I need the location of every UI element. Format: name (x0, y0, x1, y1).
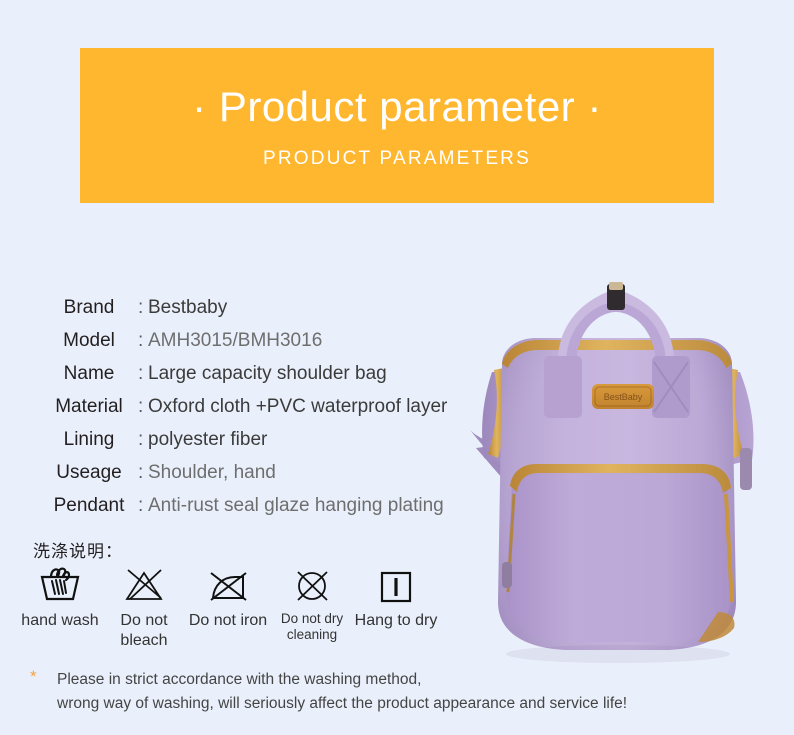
wash-caption-do-not-dry-clean: Do not dry cleaning (270, 611, 354, 644)
spec-value-name: Large capacity shoulder bag (148, 363, 387, 385)
spec-row-pendant: Pendant : Anti-rust seal glaze hanging p… (40, 495, 510, 528)
wash-item-do-not-dry-clean: Do not dry cleaning (270, 563, 354, 644)
spec-colon-name: : (138, 363, 148, 385)
footnote-line-2: wrong way of washing, will seriously aff… (57, 692, 730, 716)
spec-row-material: Material : Oxford cloth +PVC waterproof … (40, 396, 510, 429)
do-not-iron-icon (205, 563, 251, 607)
spec-label-name: Name (40, 363, 138, 385)
spec-label-material: Material (40, 396, 138, 418)
spec-colon-lining: : (138, 429, 148, 451)
spec-row-useage: Useage : Shoulder, hand (40, 462, 510, 495)
do-not-bleach-icon (121, 563, 167, 607)
spec-value-pendant: Anti-rust seal glaze hanging plating (148, 495, 444, 517)
hand-wash-icon (37, 563, 83, 607)
spec-colon-material: : (138, 396, 148, 418)
wash-caption-hand-wash: hand wash (21, 611, 98, 631)
banner-subtitle: PRODUCT PARAMETERS (80, 149, 714, 168)
zipper-pull-left-bottom (502, 562, 512, 588)
spec-colon-useage: : (138, 462, 148, 484)
spec-label-model: Model (40, 330, 138, 352)
footnote-line-1: Please in strict accordance with the was… (57, 668, 730, 692)
footnote-text: Please in strict accordance with the was… (57, 668, 730, 716)
ground-shadow (506, 645, 730, 663)
spec-label-lining: Lining (40, 429, 138, 451)
left-handle-tab (544, 356, 582, 418)
spec-value-lining: polyester fiber (148, 429, 267, 451)
spec-value-useage: Shoulder, hand (148, 462, 276, 484)
wash-item-do-not-bleach: Do not bleach (102, 563, 186, 650)
wash-caption-do-not-iron: Do not iron (189, 611, 267, 631)
spec-label-pendant: Pendant (40, 495, 138, 517)
banner-title: · Product parameter · (80, 86, 714, 128)
clasp-metal (609, 282, 623, 290)
do-not-dry-clean-icon (289, 563, 335, 607)
product-parameter-banner: · Product parameter · PRODUCT PARAMETERS (80, 48, 714, 203)
front-pocket (506, 466, 732, 642)
zipper-pull-right (740, 448, 752, 490)
spec-value-material: Oxford cloth +PVC waterproof layer (148, 396, 447, 418)
spec-row-name: Name : Large capacity shoulder bag (40, 363, 510, 396)
spec-row-brand: Brand : Bestbaby (40, 297, 510, 330)
spec-colon-model: : (138, 330, 148, 352)
footnote: * Please in strict accordance with the w… (30, 668, 730, 716)
spec-label-useage: Useage (40, 462, 138, 484)
spec-label-brand: Brand (40, 297, 138, 319)
spec-row-model: Model : AMH3015/BMH3016 (40, 330, 510, 363)
spec-value-model: AMH3015/BMH3016 (148, 330, 322, 352)
footnote-asterisk-icon: * (30, 668, 37, 685)
washing-instructions-heading: 洗涤说明： (33, 537, 123, 562)
spec-row-lining: Lining : polyester fiber (40, 429, 510, 462)
wash-item-hand-wash: hand wash (18, 563, 102, 631)
wash-item-do-not-iron: Do not iron (186, 563, 270, 631)
spec-value-brand: Bestbaby (148, 297, 227, 319)
wash-caption-hang-to-dry: Hang to dry (355, 611, 438, 631)
spec-colon-brand: : (138, 297, 148, 319)
hang-to-dry-icon (373, 563, 419, 607)
washing-symbol-row: hand wash Do not bleach Do not iron (18, 563, 438, 650)
wash-caption-do-not-bleach: Do not bleach (102, 611, 186, 650)
wash-item-hang-to-dry: Hang to dry (354, 563, 438, 631)
brand-patch-text: BestBaby (604, 392, 643, 402)
spec-list: Brand : Bestbaby Model : AMH3015/BMH3016… (40, 297, 510, 528)
spec-colon-pendant: : (138, 495, 148, 517)
